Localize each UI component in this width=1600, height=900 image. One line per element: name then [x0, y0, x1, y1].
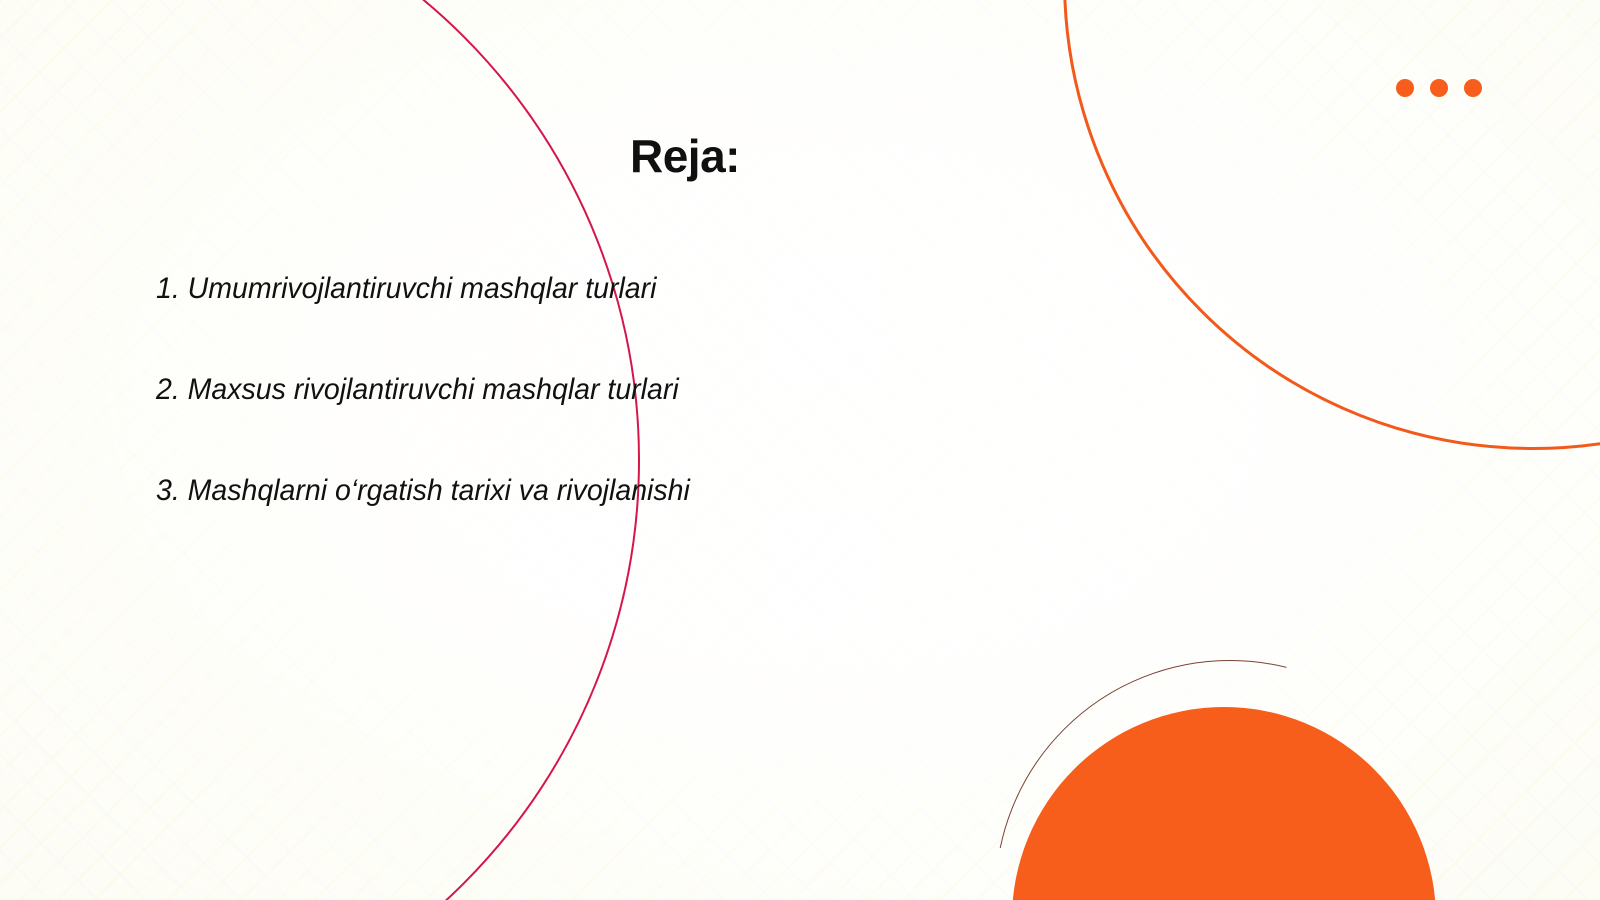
list-item: 1. Umumrivojlantiruvchi mashqlar turlari	[156, 272, 1106, 305]
slide-title: Reja:	[0, 129, 1370, 183]
list-item: 2. Maxsus rivojlantiruvchi mashqlar turl…	[156, 373, 1106, 406]
orange-circle-decoration	[1012, 707, 1436, 900]
dot-icon	[1396, 79, 1414, 97]
presentation-slide: Reja: 1. Umumrivojlantiruvchi mashqlar t…	[0, 0, 1600, 900]
agenda-list: 1. Umumrivojlantiruvchi mashqlar turlari…	[156, 272, 1156, 507]
thin-arc-decoration	[995, 660, 1465, 900]
list-item: 3. Mashqlarni o‘rgatish tarixi va rivojl…	[156, 474, 1106, 507]
three-dots-decoration	[1396, 79, 1482, 97]
dot-icon	[1430, 79, 1448, 97]
dot-icon	[1464, 79, 1482, 97]
